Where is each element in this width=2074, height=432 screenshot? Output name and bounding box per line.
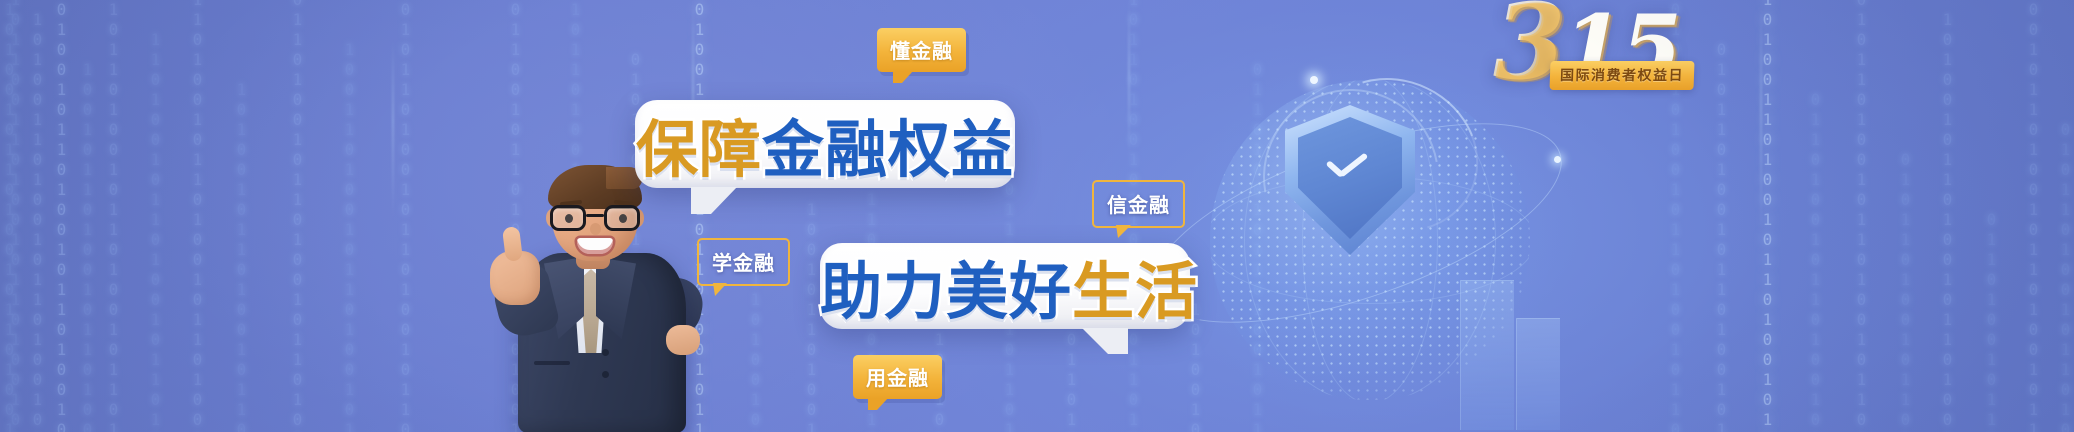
character-hand-right bbox=[666, 325, 700, 355]
tag-xue-jinrong-tail bbox=[713, 283, 727, 296]
tag-dong-jinrong-label: 懂金融 bbox=[890, 41, 953, 63]
character-button-2 bbox=[602, 371, 609, 378]
glasses-lens-right bbox=[604, 205, 640, 231]
headline-secondary: 助力美好生活 bbox=[820, 241, 1190, 331]
glasses-lens-left bbox=[550, 205, 586, 231]
tag-yong-jinrong-label: 用金融 bbox=[866, 368, 929, 390]
character-button-1 bbox=[602, 349, 609, 356]
glasses-bridge bbox=[586, 214, 604, 217]
tag-dong-jinrong[interactable]: 懂金融 bbox=[877, 28, 966, 72]
speech-bubble-primary: 保障金融权益 bbox=[635, 100, 1015, 188]
arc-swoosh-tip bbox=[1310, 76, 1318, 84]
tag-dong-jinrong-tail bbox=[893, 71, 913, 83]
logo-315: 315 国际消费者权益日 bbox=[1493, 0, 1693, 98]
thumbs-up-thumb bbox=[502, 226, 523, 262]
headline-secondary-blue: 助力美好 bbox=[820, 255, 1072, 328]
vignette-overlay bbox=[0, 0, 2074, 432]
orbit-node-right bbox=[1554, 156, 1561, 163]
character-mouth bbox=[577, 238, 613, 254]
character-nose bbox=[590, 223, 601, 235]
tag-xin-jinrong[interactable]: 信金融 bbox=[1092, 180, 1185, 228]
logo-315-badge: 国际消费者权益日 bbox=[1549, 61, 1694, 90]
tag-xin-jinrong-label: 信金融 bbox=[1107, 195, 1170, 217]
headline-secondary-gold: 生活 bbox=[1072, 255, 1198, 328]
binary-matrix-background: 0101100110100101101001011010 10100110100… bbox=[0, 0, 2074, 432]
check-icon bbox=[1325, 157, 1371, 181]
headline-primary: 保障金融权益 bbox=[635, 99, 1015, 189]
logo-315-badge-label: 国际消费者权益日 bbox=[1560, 65, 1685, 85]
businessman-character bbox=[490, 165, 710, 432]
speech-bubble-secondary: 助力美好生活 bbox=[820, 243, 1190, 329]
tag-xue-jinrong-label: 学金融 bbox=[712, 253, 775, 275]
banner-root: 0101100110100101101001011010 10100110100… bbox=[0, 0, 2074, 432]
tag-yong-jinrong-tail bbox=[868, 398, 888, 410]
headline-primary-gold: 保障 bbox=[636, 113, 762, 186]
character-pocket bbox=[534, 361, 570, 365]
tag-yong-jinrong[interactable]: 用金融 bbox=[853, 355, 942, 399]
shield-check-graphic bbox=[1285, 105, 1415, 255]
headline-primary-blue: 金融权益 bbox=[762, 113, 1014, 186]
globe-bar-2 bbox=[1516, 318, 1560, 430]
tag-xue-jinrong[interactable]: 学金融 bbox=[697, 238, 790, 286]
tag-xin-jinrong-tail bbox=[1116, 225, 1131, 238]
